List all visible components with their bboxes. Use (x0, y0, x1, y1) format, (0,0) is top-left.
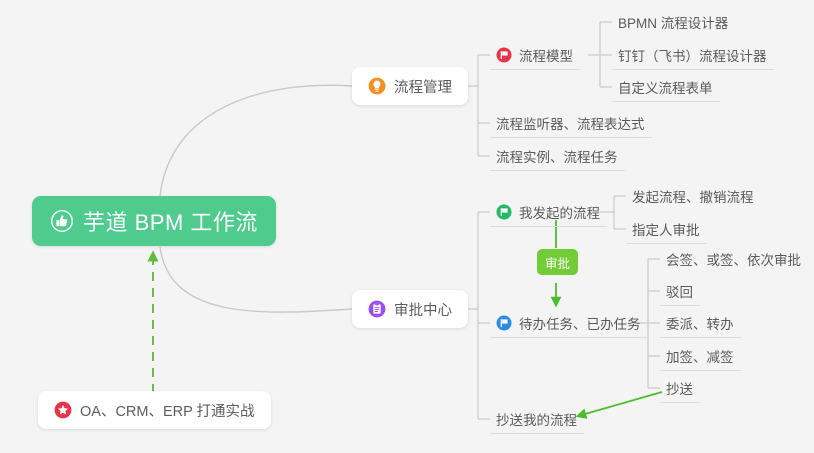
leaf-label: 钉钉（飞书）流程设计器 (618, 45, 767, 65)
child-node-todo-done-tasks[interactable]: 待办任务、已办任务 (490, 309, 648, 338)
root-node[interactable]: 芋道 BPM 工作流 (32, 196, 276, 246)
flag-icon (496, 204, 512, 220)
thumbs-up-icon (50, 209, 74, 233)
leaf-label: 驳回 (666, 281, 693, 301)
leaf-label: BPMN 流程设计器 (618, 12, 728, 32)
leaf-label: 指定人审批 (632, 219, 700, 239)
branch-label: 审批中心 (394, 299, 452, 320)
leaf-node-cc[interactable]: 抄送 (660, 374, 700, 403)
lightbulb-icon (368, 77, 386, 95)
flag-icon (496, 315, 512, 331)
leaf-node-add-remove-sign[interactable]: 加签、减签 (660, 342, 741, 371)
leaf-node-assignee-approval[interactable]: 指定人审批 (626, 215, 707, 244)
leaf-node-custom-form[interactable]: 自定义流程表单 (612, 73, 720, 102)
branch-node-approval-center[interactable]: 审批中心 (352, 290, 468, 328)
leaf-node-start-cancel-process[interactable]: 发起流程、撤销流程 (626, 182, 761, 211)
footnote-label: OA、CRM、ERP 打通实战 (80, 400, 255, 421)
child-label: 待办任务、已办任务 (519, 313, 641, 333)
child-label: 流程模型 (519, 45, 573, 65)
branch-label: 流程管理 (394, 76, 452, 97)
child-label: 我发起的流程 (519, 202, 600, 222)
leaf-label: 流程监听器、流程表达式 (496, 113, 645, 133)
clipboard-icon (368, 300, 386, 318)
star-icon (54, 401, 72, 419)
approve-tag: 审批 (537, 249, 578, 275)
leaf-label: 委派、转办 (666, 313, 734, 333)
root-label: 芋道 BPM 工作流 (83, 205, 258, 237)
leaf-node-dingtalk-feishu-designer[interactable]: 钉钉（飞书）流程设计器 (612, 41, 774, 70)
child-node-my-started-processes[interactable]: 我发起的流程 (490, 198, 607, 227)
leaf-label: 发起流程、撤销流程 (632, 186, 754, 206)
leaf-node-listener-expression[interactable]: 流程监听器、流程表达式 (490, 109, 652, 138)
leaf-node-bpmn-designer[interactable]: BPMN 流程设计器 (612, 8, 735, 37)
footnote-node-integration[interactable]: OA、CRM、ERP 打通实战 (38, 391, 271, 429)
child-node-process-model[interactable]: 流程模型 (490, 41, 580, 70)
mindmap-canvas: 芋道 BPM 工作流 流程管理 流程模型 BPMN 流程设计器 钉钉（飞书）流程 (0, 0, 814, 453)
leaf-node-reject[interactable]: 驳回 (660, 277, 700, 306)
leaf-label: 抄送 (666, 378, 693, 398)
leaf-node-cc-to-me[interactable]: 抄送我的流程 (490, 405, 584, 434)
leaf-label: 自定义流程表单 (618, 77, 713, 97)
flag-icon (496, 47, 512, 63)
leaf-label: 流程实例、流程任务 (496, 146, 618, 166)
branch-node-process-management[interactable]: 流程管理 (352, 67, 468, 105)
leaf-label: 抄送我的流程 (496, 409, 577, 429)
leaf-label: 会签、或签、依次审批 (666, 249, 801, 269)
leaf-node-instance-task[interactable]: 流程实例、流程任务 (490, 142, 625, 171)
leaf-label: 加签、减签 (666, 346, 734, 366)
leaf-node-countersign[interactable]: 会签、或签、依次审批 (660, 245, 808, 274)
approve-tag-label: 审批 (545, 253, 570, 272)
leaf-node-delegate-transfer[interactable]: 委派、转办 (660, 309, 741, 338)
